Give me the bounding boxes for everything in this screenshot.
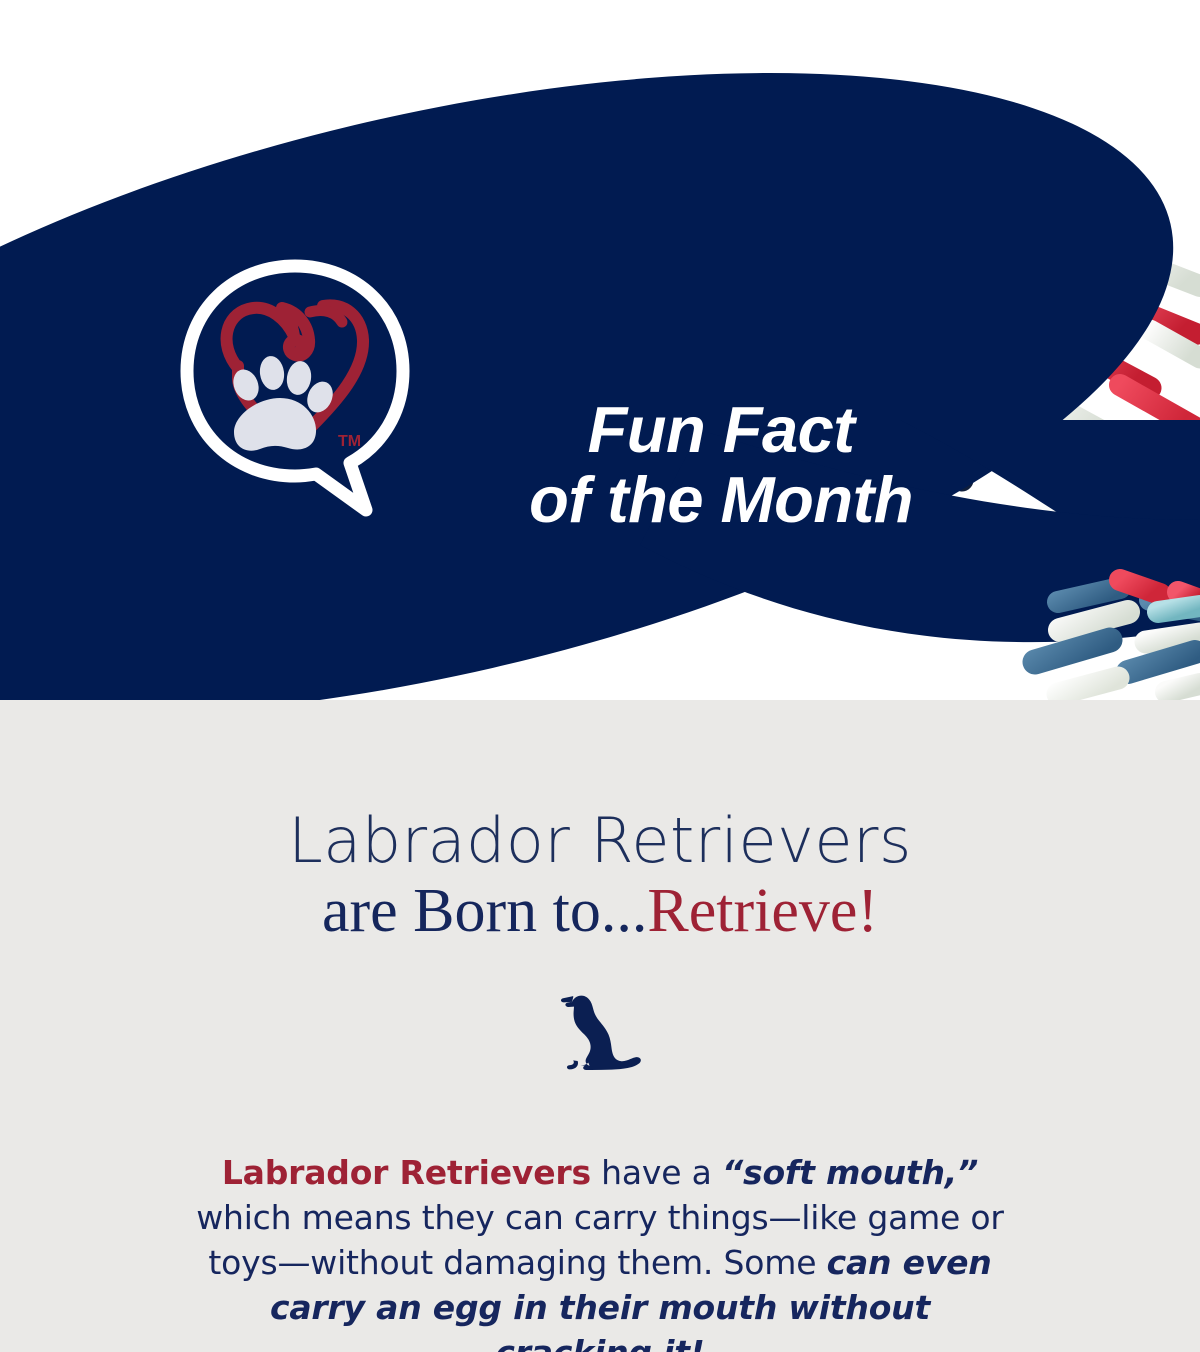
headline-line-2-accent: Retrieve!	[647, 877, 878, 945]
hero-banner: TM Fun Fact of the Month	[0, 0, 1200, 700]
content-area: Labrador Retrievers are Born to...Retrie…	[0, 700, 1200, 1352]
dog-illustration	[0, 993, 1200, 1080]
trademark-symbol: TM	[338, 433, 361, 450]
page-headline: Labrador Retrievers are Born to...Retrie…	[0, 810, 1200, 942]
hero-title: Fun Fact of the Month	[486, 395, 956, 535]
hero-title-line-2: of the Month	[486, 465, 956, 535]
speech-bubble-heart-paw-logo: TM	[160, 252, 430, 522]
headline-line-2-prefix: are Born to...	[322, 877, 647, 945]
hero-title-line-1: Fun Fact	[588, 393, 855, 466]
fact-paragraph: Labrador Retrievers have a “soft mouth,”…	[190, 1151, 1010, 1352]
poster-canvas: TM Fun Fact of the Month Labrador Retrie…	[0, 0, 1200, 1352]
headline-line-2: are Born to...Retrieve!	[0, 880, 1200, 942]
headline-line-1: Labrador Retrievers	[0, 810, 1200, 872]
sitting-labrador-dog-silhouette-icon	[550, 993, 650, 1075]
fact-quote: “soft mouth,”	[722, 1153, 978, 1192]
organization-logo: TM	[160, 252, 430, 522]
fact-segment-1: have a	[591, 1153, 722, 1192]
fact-brand-phrase: Labrador Retrievers	[222, 1153, 591, 1192]
